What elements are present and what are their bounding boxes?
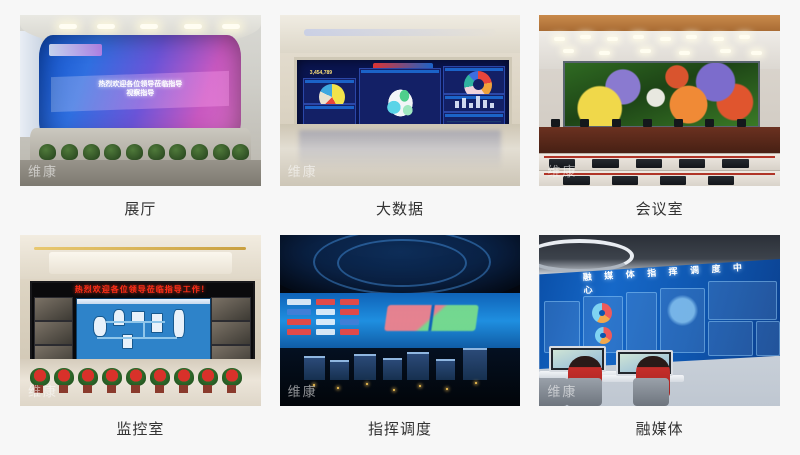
- caption-exhibition-hall: 展厅: [20, 186, 261, 233]
- image-gallery-grid: 热烈欢迎各位领导莅临指导 视察指导 维康 展厅: [0, 0, 800, 455]
- curved-led-wall: [280, 293, 521, 355]
- curved-led-screen: 热烈欢迎各位领导莅临指导 视察指导: [39, 35, 241, 143]
- caption-big-data: 大数据: [280, 186, 521, 233]
- kpi-primary: 3,454,789: [310, 70, 332, 76]
- caption-command-dispatch: 指挥调度: [280, 406, 521, 453]
- gallery-item-exhibition-hall[interactable]: 热烈欢迎各位领导莅临指导 视察指导 维康 展厅: [20, 15, 261, 233]
- photo-conference-room[interactable]: 维康: [539, 15, 780, 186]
- scada-diagram: [76, 298, 211, 362]
- screen-welcome-line2: 视察指导: [39, 89, 241, 98]
- watermark-text: 维康: [288, 381, 318, 400]
- watermark-text: 维康: [547, 381, 577, 400]
- watermark-text: 维康: [288, 161, 318, 180]
- caption-converged-media: 融媒体: [539, 406, 780, 453]
- gallery-item-conference-room[interactable]: 维康 会议室: [539, 15, 780, 233]
- screen-welcome-line1: 热烈欢迎各位领导莅临指导: [39, 80, 241, 89]
- photo-converged-media[interactable]: 融 媒 体 指 挥 调 度 中 心: [539, 235, 780, 406]
- photo-command-dispatch[interactable]: 维康: [280, 235, 521, 406]
- watermark-text: 维康: [28, 161, 58, 180]
- photo-exhibition-hall[interactable]: 热烈欢迎各位领导莅临指导 视察指导 维康: [20, 15, 261, 186]
- caption-conference-room: 会议室: [539, 186, 780, 233]
- gallery-item-big-data[interactable]: 3,454,789 1,247,291: [280, 15, 521, 233]
- monitoring-video-wall: 热烈欢迎各位领导莅临指导工作！: [30, 281, 255, 363]
- windows-logo-icon: [384, 305, 479, 331]
- gallery-item-monitoring-room[interactable]: 热烈欢迎各位领导莅临指导工作！: [20, 235, 261, 453]
- gallery-item-converged-media[interactable]: 融 媒 体 指 挥 调 度 中 心: [539, 235, 780, 453]
- gallery-item-command-dispatch[interactable]: 维康 指挥调度: [280, 235, 521, 453]
- watermark-text: 维康: [28, 381, 58, 400]
- led-video-wall: 3,454,789 1,247,291: [294, 57, 512, 133]
- photo-big-data[interactable]: 3,454,789 1,247,291: [280, 15, 521, 186]
- watermark-text: 维康: [547, 161, 577, 180]
- welcome-banner: 热烈欢迎各位领导莅临指导工作！: [63, 284, 222, 296]
- photo-monitoring-room[interactable]: 热烈欢迎各位领导莅临指导工作！: [20, 235, 261, 406]
- led-flower-display: [563, 61, 760, 128]
- caption-monitoring-room: 监控室: [20, 406, 261, 453]
